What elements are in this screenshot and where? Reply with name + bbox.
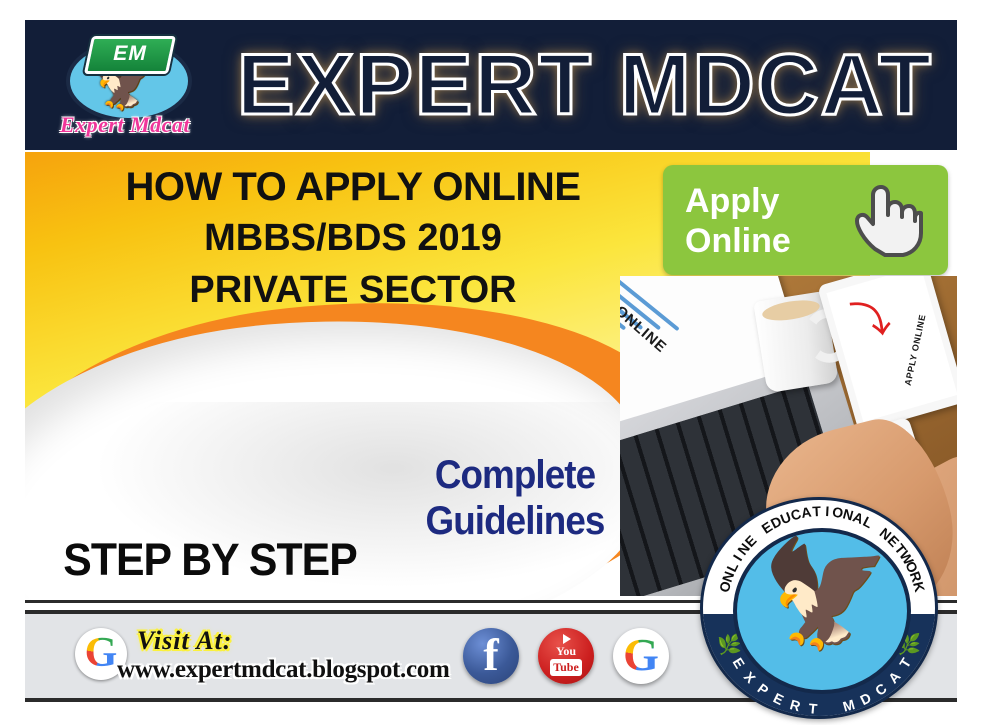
headline-line-3: PRIVATE SECTOR — [53, 264, 653, 316]
expert-mdcat-seal: 🌿 🌿 🦅 ONLINE EDUCATIONAL NETWORK EXPERT … — [700, 497, 938, 719]
headline-line-2: MBBS/BDS 2019 — [53, 212, 653, 264]
seal-outer-ring: 🌿 🌿 🦅 ONLINE EDUCATIONAL NETWORK EXPERT … — [700, 497, 938, 719]
mug-foam — [761, 297, 821, 324]
youtube-play-triangle — [563, 634, 571, 644]
logo-wordmark: Expert Mdcat — [40, 112, 210, 138]
brand-logo: 🦅 EM Expert Mdcat — [40, 26, 210, 146]
apply-online-button[interactable]: Apply Online — [663, 165, 948, 275]
page-title: EXPERT MDCAT — [225, 36, 945, 136]
apply-online-line-2: Online — [685, 221, 845, 261]
poster-header: 🦅 EM Expert Mdcat EXPERT MDCAT — [25, 20, 957, 150]
complete-guidelines-line-1: Complete — [400, 452, 630, 498]
logo-em-mark: EM — [84, 36, 176, 74]
facebook-glyph: f — [463, 626, 519, 684]
youtube-you-label: You — [538, 645, 594, 657]
facebook-icon[interactable]: f — [463, 628, 519, 684]
complete-guidelines-block: Complete Guidelines — [400, 452, 630, 544]
headline-block: HOW TO APPLY ONLINE MBBS/BDS 2019 PRIVAT… — [53, 162, 653, 316]
google-glyph: G — [618, 630, 664, 680]
website-url[interactable]: www.expertmdcat.blogspot.com — [117, 656, 450, 684]
headline-line-1: HOW TO APPLY ONLINE — [53, 162, 653, 212]
seal-bottom-text: EXPERT MDCAT — [703, 500, 938, 719]
apply-online-line-1: Apply — [685, 181, 845, 221]
poster-root: 🦅 EM Expert Mdcat EXPERT MDCAT HOW TO AP… — [0, 0, 982, 725]
tablet-screen-text: APPLY ONLINE — [903, 287, 934, 387]
google-icon[interactable]: G — [613, 628, 669, 684]
hand-pointer-icon — [849, 183, 925, 261]
youtube-icon[interactable]: You Tube — [538, 628, 594, 684]
apply-online-label: Apply Online — [685, 181, 845, 261]
complete-guidelines-line-2: Guidelines — [400, 498, 630, 544]
youtube-tube-label: Tube — [550, 659, 582, 676]
step-by-step-label: STEP BY STEP — [63, 534, 377, 586]
visit-at-label: Visit At: — [137, 626, 232, 656]
